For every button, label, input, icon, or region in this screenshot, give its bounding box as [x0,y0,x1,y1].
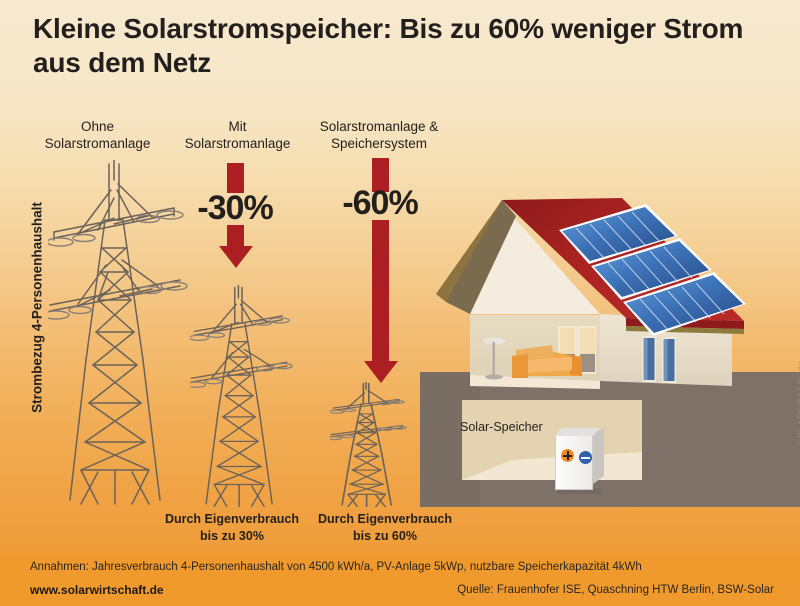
battery-side [593,428,604,484]
footer-website-link[interactable]: www.solarwirtschaft.de [30,583,164,597]
battery-plus-icon [561,449,574,462]
reduction-label-60: -60% [315,184,445,223]
infographic-canvas: Kleine Solarstromspeicher: Bis zu 60% we… [0,0,800,606]
battery-top [555,428,600,436]
arrow-60-head-icon [364,361,398,383]
caption-60-line1: Durch Eigenverbrauch [305,511,465,528]
column-header-mit: Mit Solarstromanlage [160,118,315,153]
house-svg [430,190,790,390]
page-title: Kleine Solarstromspeicher: Bis zu 60% we… [33,12,773,80]
column-header-ohne-line2: Solarstromanlage [20,135,175,152]
column-header-mit-line2: Solarstromanlage [160,135,315,152]
column-header-speicher-line1: Solarstromanlage & [295,118,463,135]
arrow-60-shaft-bottom [372,220,389,362]
pylon-mit-svg [190,285,300,507]
house-illustration [430,190,790,390]
watermark-label: SOLARGRAFIK.de [797,348,800,458]
footer-source: Quelle: Frauenhofer ISE, Quaschning HTW … [457,584,774,596]
battery-minus-icon [579,451,592,464]
caption-30-line2: bis zu 30% [152,528,312,545]
column-header-speicher-line2: Speichersystem [295,135,463,152]
caption-self-consumption-30: Durch Eigenverbrauch bis zu 30% [152,511,312,545]
reduction-label-30: -30% [170,189,300,228]
caption-self-consumption-60: Durch Eigenverbrauch bis zu 60% [305,511,465,545]
footer-bar: Annahmen: Jahresverbrauch 4-Personenhaus… [0,553,800,606]
column-header-ohne: Ohne Solarstromanlage [20,118,175,153]
pylon-speicher-svg [330,382,412,507]
y-axis-label: Strombezug 4-Personenhaushalt [30,183,45,433]
battery-storage-unit [555,428,607,490]
column-header-mit-line1: Mit [160,118,315,135]
battery-front [555,434,593,490]
arrow-30-head-icon [219,246,253,268]
pylon-speicher [330,382,412,507]
pylon-mit [190,285,300,507]
column-header-speicher: Solarstromanlage & Speichersystem [295,118,463,153]
column-header-ohne-line1: Ohne [20,118,175,135]
footer-assumptions: Annahmen: Jahresverbrauch 4-Personenhaus… [30,561,642,573]
arrow-30-shaft-bottom [227,225,244,247]
caption-60-line2: bis zu 60% [305,528,465,545]
caption-30-line1: Durch Eigenverbrauch [152,511,312,528]
